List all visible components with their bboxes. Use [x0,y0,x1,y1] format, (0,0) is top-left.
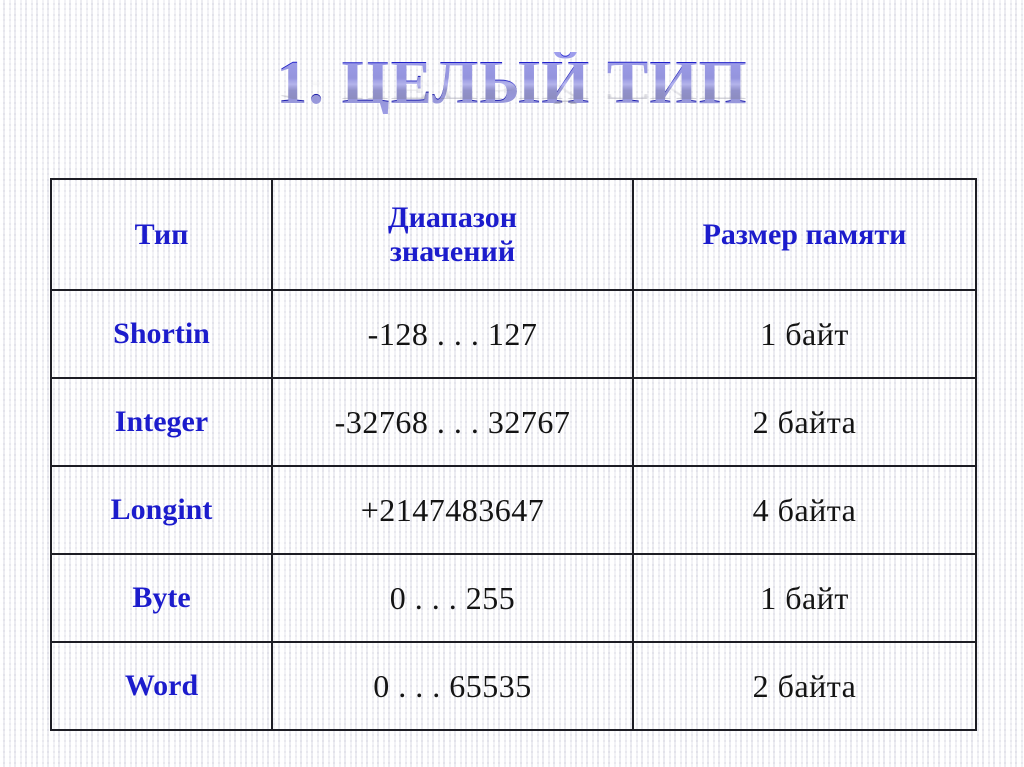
memory-value: 1 байт [760,316,849,352]
table-row: Word 0 . . . 65535 2 байта [51,642,976,730]
integer-types-table: Тип Диапазон значений Размер памяти Shor… [50,178,977,731]
memory-value: 2 байта [753,668,857,704]
page-title-text: 1. ЦЕЛЫЙ ТИП [276,52,747,114]
memory-value: 1 байт [760,580,849,616]
slide-content: 1. ЦЕЛЫЙ ТИП 1. ЦЕЛЫЙ ТИП Тип Диапазон з… [0,0,1024,767]
cell-type: Byte [51,554,272,642]
cell-range: -128 . . . 127 [272,290,633,378]
cell-range: -32768 . . . 32767 [272,378,633,466]
cell-type: Shortin [51,290,272,378]
column-header-memory: Размер памяти [633,179,976,290]
table-row: Byte 0 . . . 255 1 байт [51,554,976,642]
memory-value: 2 байта [753,404,857,440]
column-header-range-label: Диапазон значений [279,201,626,268]
cell-type: Longint [51,466,272,554]
type-name: Byte [132,581,190,614]
cell-memory: 4 байта [633,466,976,554]
range-value: +2147483647 [361,492,545,528]
cell-memory: 1 байт [633,554,976,642]
cell-range: 0 . . . 65535 [272,642,633,730]
cell-memory: 2 байта [633,378,976,466]
column-header-range-line1: Диапазон [388,201,517,234]
range-value: -128 . . . 127 [368,316,538,352]
column-header-range: Диапазон значений [272,179,633,290]
cell-memory: 1 байт [633,290,976,378]
type-name: Integer [115,405,208,438]
cell-range: 0 . . . 255 [272,554,633,642]
type-name: Word [125,669,198,702]
type-name: Shortin [113,317,210,350]
table-header-row: Тип Диапазон значений Размер памяти [51,179,976,290]
memory-value: 4 байта [753,492,857,528]
column-header-type: Тип [51,179,272,290]
type-name: Longint [111,493,213,526]
cell-range: +2147483647 [272,466,633,554]
page-title: 1. ЦЕЛЫЙ ТИП 1. ЦЕЛЫЙ ТИП [0,52,1024,166]
cell-memory: 2 байта [633,642,976,730]
table-row: Longint +2147483647 4 байта [51,466,976,554]
range-value: -32768 . . . 32767 [335,404,571,440]
cell-type: Integer [51,378,272,466]
column-header-range-line2: значений [279,235,626,269]
column-header-memory-label: Размер памяти [703,218,907,251]
range-value: 0 . . . 65535 [373,668,532,704]
range-value: 0 . . . 255 [390,580,516,616]
cell-type: Word [51,642,272,730]
column-header-type-label: Тип [135,218,189,251]
table-row: Integer -32768 . . . 32767 2 байта [51,378,976,466]
table-row: Shortin -128 . . . 127 1 байт [51,290,976,378]
